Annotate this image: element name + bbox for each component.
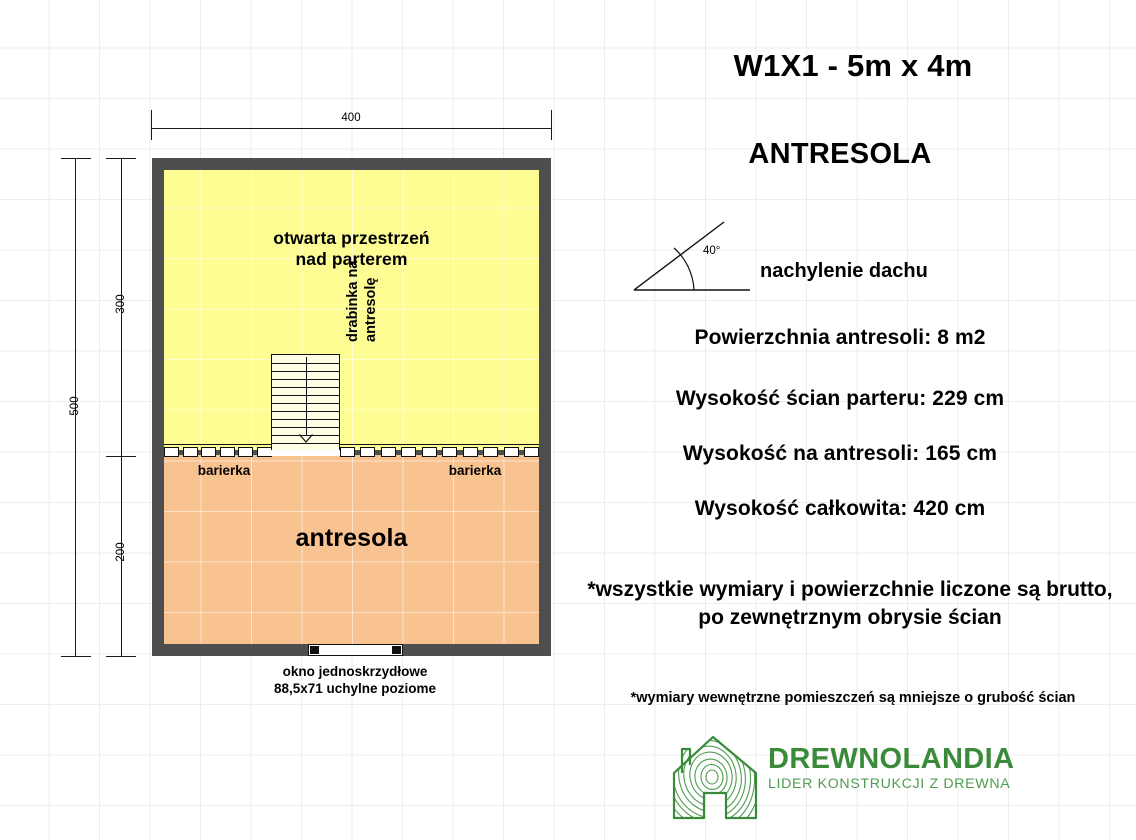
- ladder-symbol: [271, 354, 340, 452]
- railing-baluster: [524, 447, 539, 457]
- window-symbol: [308, 644, 403, 656]
- railing-balusters: [164, 447, 272, 458]
- ladder-opening-gap: [271, 450, 340, 456]
- dim-tick-top-left: [151, 110, 152, 140]
- note-primary: *wszystkie wymiary i powierzchnie liczon…: [580, 576, 1120, 632]
- note-secondary: *wymiary wewnętrzne pomieszczeń są mniej…: [570, 690, 1136, 706]
- railing-baluster: [360, 447, 375, 457]
- railing-baluster: [238, 447, 253, 457]
- railing-baluster: [201, 447, 216, 457]
- railing-baluster: [422, 447, 437, 457]
- railing-top-rail: [164, 444, 272, 445]
- railing-baluster: [401, 447, 416, 457]
- ladder-direction-line: [306, 357, 307, 435]
- dim-tick-top-right: [551, 110, 552, 140]
- railing-baluster: [220, 447, 235, 457]
- logo-company-name: DREWNOLANDIA: [768, 745, 1028, 774]
- dim-tick-outer-top: [61, 158, 91, 159]
- roof-pitch-label: nachylenie dachu: [760, 260, 928, 283]
- ladder-direction-arrow-icon: [299, 434, 313, 443]
- dim-line-width: [151, 128, 552, 129]
- railing-left-symbol: [164, 444, 272, 459]
- info-panel: W1X1 - 5m x 4m ANTRESOLA 40° nachylenie …: [570, 0, 1136, 840]
- page-title: W1X1 - 5m x 4m: [570, 48, 1136, 84]
- logo-text-block: DREWNOLANDIA LIDER KONSTRUKCJI Z DREWNA: [768, 745, 1028, 791]
- railing-baluster: [442, 447, 457, 457]
- railing-baluster: [381, 447, 396, 457]
- railing-baluster: [183, 447, 198, 457]
- railing-balusters: [340, 447, 539, 458]
- spec-total-height: Wysokość całkowita: 420 cm: [570, 497, 1110, 521]
- drewnolandia-house-wood-rings-icon: [668, 735, 760, 820]
- railing-baluster: [164, 447, 179, 457]
- ladder-label-line1: drabinka na: [345, 261, 361, 342]
- dim-label-height-total: 500: [69, 382, 81, 430]
- floor-plan-sheet: 400 500 300 200 otwarta przestrzeń nad p…: [0, 0, 1136, 840]
- page-subtitle: ANTRESOLA: [570, 138, 1110, 171]
- dim-label-width: 400: [311, 112, 391, 124]
- roof-pitch-angle-value: 40°: [703, 245, 720, 257]
- floor-plan-drawing: 400 500 300 200 otwarta przestrzeń nad p…: [0, 0, 600, 840]
- railing-baluster: [463, 447, 478, 457]
- company-logo: DREWNOLANDIA LIDER KONSTRUKCJI Z DREWNA: [668, 735, 1028, 820]
- railing-baluster: [504, 447, 519, 457]
- dim-label-height-lower: 200: [115, 528, 127, 576]
- railing-label-left: barierka: [164, 463, 284, 478]
- railing-baluster: [340, 447, 355, 457]
- ladder-label-line2: antresolę: [363, 278, 379, 342]
- window-end-cap-left: [310, 646, 319, 654]
- window-label-line1: okno jednoskrzydłowe: [283, 664, 428, 679]
- zone-mezzanine: antresola: [164, 455, 539, 644]
- logo-tagline: LIDER KONSTRUKCJI Z DREWNA: [768, 777, 1028, 791]
- roof-pitch-diagram-icon: [632, 220, 762, 300]
- ladder-rung: [272, 443, 339, 444]
- window-label: okno jednoskrzydłowe 88,5x71 uchylne poz…: [200, 663, 510, 698]
- zone-label-mezzanine: antresola: [164, 523, 539, 554]
- dim-tick-outer-bottom: [61, 656, 91, 657]
- railing-baluster: [483, 447, 498, 457]
- ladder-label: drabinka na antresolę: [344, 232, 380, 342]
- dim-label-height-upper: 300: [115, 280, 127, 328]
- window-end-cap-right: [392, 646, 401, 654]
- spec-mezzanine-height: Wysokość na antresoli: 165 cm: [570, 442, 1110, 466]
- railing-baluster: [257, 447, 272, 457]
- railing-top-rail: [340, 444, 539, 445]
- railing-right-symbol: [340, 444, 539, 459]
- spec-mezzanine-area: Powierzchnia antresoli: 8 m2: [570, 326, 1110, 350]
- railing-label-right: barierka: [410, 463, 540, 478]
- window-label-line2: 88,5x71 uchylne poziome: [274, 681, 436, 696]
- spec-ground-floor-wall-height: Wysokość ścian parteru: 229 cm: [570, 387, 1110, 411]
